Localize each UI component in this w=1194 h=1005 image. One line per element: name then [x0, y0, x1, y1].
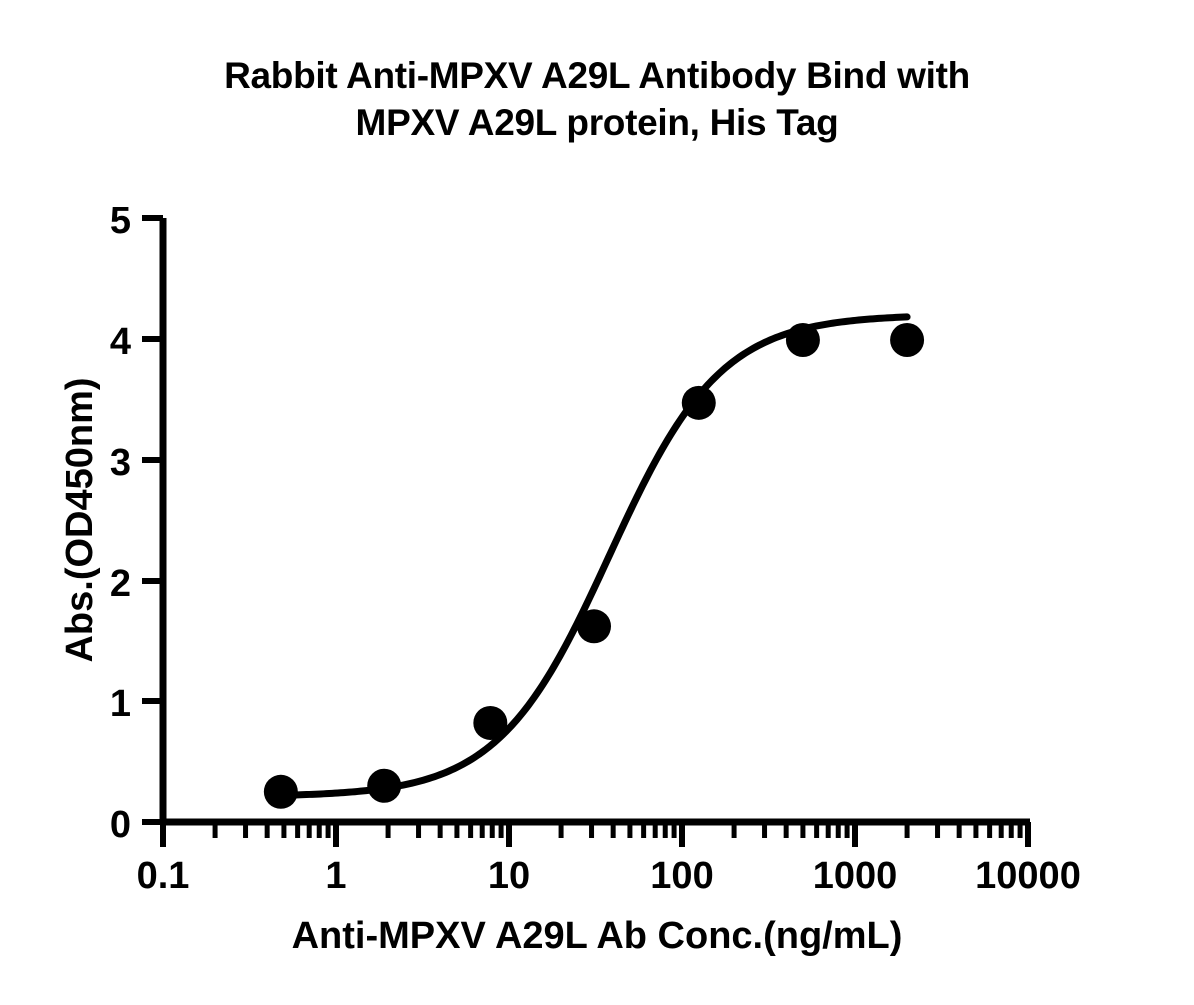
- data-point: [682, 386, 716, 420]
- fit-curve: [281, 317, 907, 795]
- y-tick-label-4: 4: [110, 321, 131, 363]
- data-points: [264, 323, 924, 809]
- x-axis-ticks: [163, 822, 1028, 847]
- x-tick-label-1000: 1000: [813, 855, 898, 897]
- data-point: [264, 775, 298, 809]
- data-point: [367, 769, 401, 803]
- x-tick-label-1: 1: [325, 855, 346, 897]
- y-tick-labels: 5 4 3 2 1 0: [110, 200, 131, 846]
- chart-figure: Rabbit Anti-MPXV A29L Antibody Bind with…: [0, 0, 1194, 1005]
- y-tick-label-3: 3: [110, 442, 131, 484]
- data-point: [890, 323, 924, 357]
- x-tick-label-10: 10: [488, 855, 530, 897]
- y-axis-label: Abs.(OD450nm): [59, 377, 101, 662]
- x-axis-label: Anti-MPXV A29L Ab Conc.(ng/mL): [292, 915, 903, 957]
- data-point: [473, 706, 507, 740]
- data-point: [577, 609, 611, 643]
- x-tick-labels: 0.1110100100010000: [137, 855, 1081, 897]
- y-tick-label-2: 2: [110, 563, 131, 605]
- y-tick-label-1: 1: [110, 683, 131, 725]
- data-point: [786, 323, 820, 357]
- x-tick-label-10000: 10000: [975, 855, 1081, 897]
- y-tick-label-5: 5: [110, 200, 131, 242]
- plot-area: Abs.(OD450nm) Anti-MPXV A29L Ab Conc.(ng…: [0, 0, 1194, 1005]
- x-tick-label-100: 100: [650, 855, 713, 897]
- y-tick-label-0: 0: [110, 804, 131, 846]
- x-tick-label-0.1: 0.1: [137, 855, 190, 897]
